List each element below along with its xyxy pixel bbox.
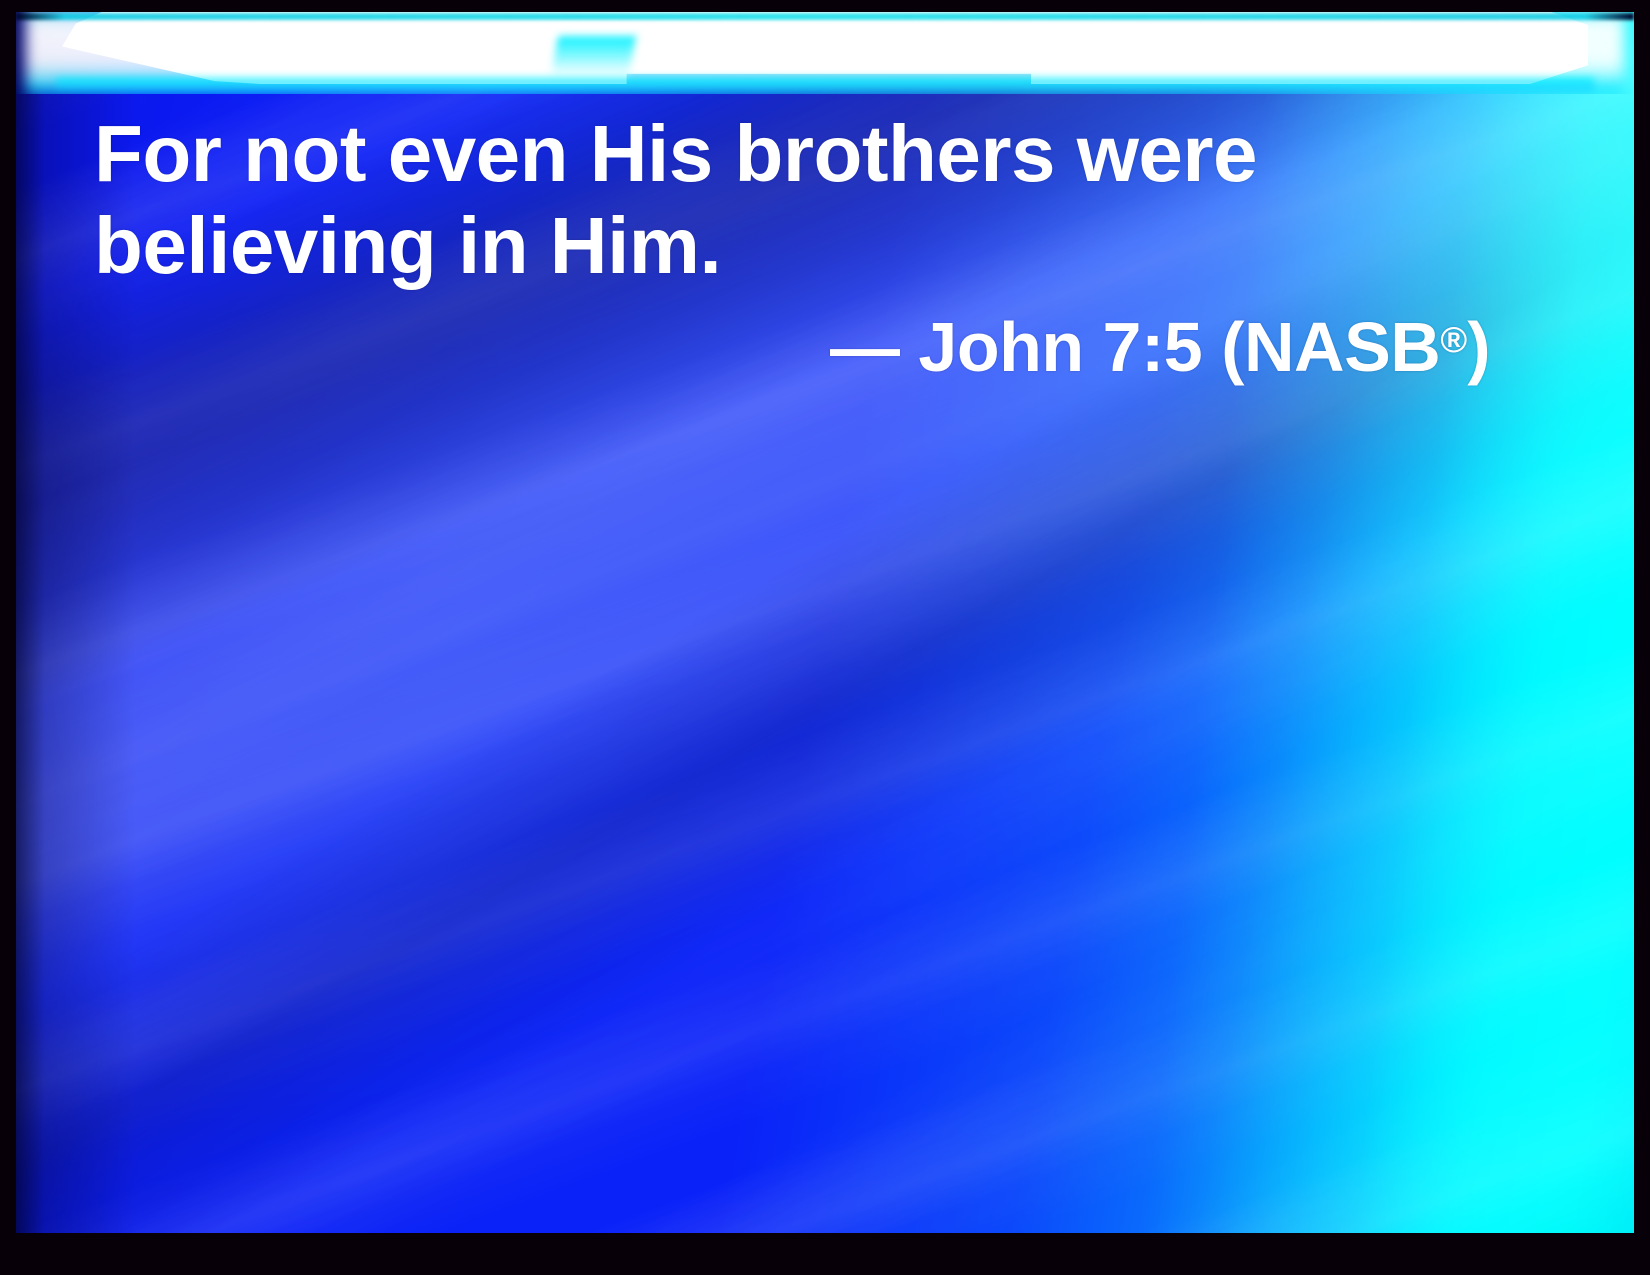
slide-artwork: For not even His brothers were believing… [16, 12, 1634, 1233]
text-layer: For not even His brothers were believing… [16, 12, 1634, 1233]
attribution-open-paren: ( [1221, 308, 1244, 386]
attribution-close-paren: ) [1467, 308, 1490, 386]
verse-text: For not even His brothers were believing… [94, 108, 1504, 292]
registered-trademark-icon: ® [1440, 319, 1467, 360]
attribution-dash: — [830, 308, 900, 386]
verse-attribution: — John 7:5 (NASB®) [94, 298, 1490, 389]
verse-slide: For not even His brothers were believing… [0, 0, 1650, 1275]
attribution-translation: NASB [1244, 308, 1440, 386]
attribution-reference: John 7:5 [918, 308, 1202, 386]
